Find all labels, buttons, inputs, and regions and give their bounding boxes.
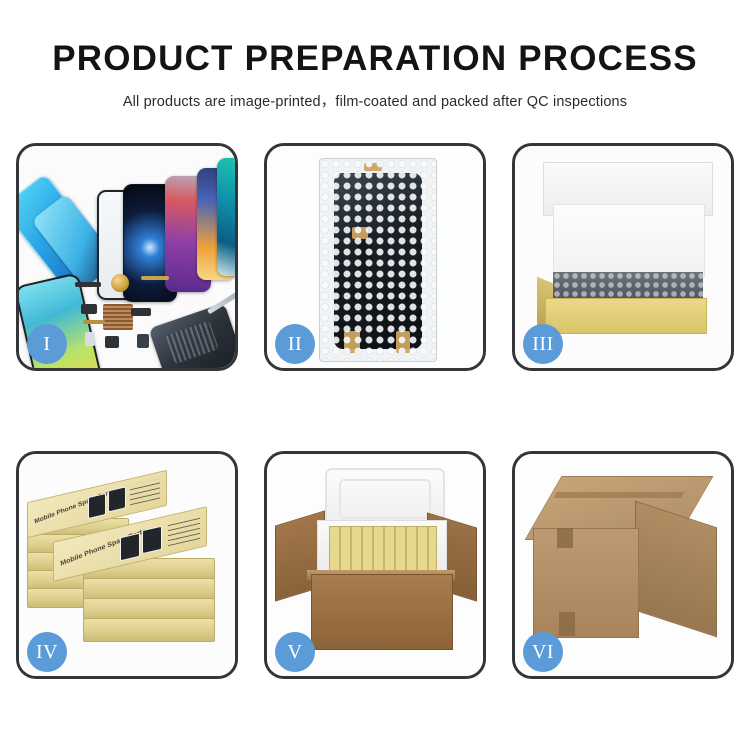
page-header: PRODUCT PREPARATION PROCESS All products… (0, 0, 750, 111)
stacked-box-front-4 (83, 618, 215, 642)
process-step-grid: I II III (16, 143, 734, 679)
step-badge-5: V (275, 632, 315, 672)
box-screen-thumb-front-2 (142, 526, 162, 555)
process-step-panel-2[interactable]: II (264, 143, 486, 371)
shipping-box-seam (553, 492, 684, 498)
small-part-4 (105, 336, 119, 348)
stacked-box-front-2 (83, 578, 215, 600)
stacked-box-front-3 (83, 598, 215, 620)
shipping-box-tape-upper (557, 528, 573, 548)
white-foam-sheet (553, 204, 705, 278)
bubble-wrap-package (319, 158, 437, 362)
page-subtitle: All products are image-printed，film-coat… (0, 90, 750, 111)
box-spec-lines-front (168, 517, 200, 546)
carton-front-face (311, 574, 453, 650)
step-badge-4: IV (27, 632, 67, 672)
packed-yellow-boxes (329, 526, 437, 572)
shipping-box-front (533, 528, 639, 638)
process-step-panel-1[interactable]: I (16, 143, 238, 371)
bubble-texture (320, 159, 436, 361)
process-step-panel-4[interactable]: Mobile Phone Spare Parts Mobile Phone Sp… (16, 451, 238, 679)
step-badge-6: VI (523, 632, 563, 672)
box-screen-thumb-back-1 (88, 493, 106, 519)
small-part-2 (81, 304, 97, 314)
step-badge-2: II (275, 324, 315, 364)
disassembled-phone-back (148, 303, 235, 368)
box-spec-lines-back (130, 478, 160, 505)
gold-component (111, 274, 129, 292)
teal-gradient-display (217, 158, 235, 276)
small-part-5 (137, 334, 149, 348)
bubble-wrapped-contents (553, 272, 703, 300)
flex-cable-1 (141, 276, 169, 280)
connector-grid-chip (103, 304, 133, 330)
process-step-panel-6[interactable]: VI (512, 451, 734, 679)
small-part-1 (75, 282, 101, 287)
box-screen-thumb-back-2 (108, 486, 126, 512)
small-part-3 (85, 332, 95, 346)
page-title: PRODUCT PREPARATION PROCESS (0, 40, 750, 79)
process-step-panel-5[interactable]: V (264, 451, 486, 679)
small-part-6 (131, 308, 151, 316)
flex-cable-2 (83, 320, 105, 324)
process-step-panel-3[interactable]: III (512, 143, 734, 371)
shipping-box-tape-lower (559, 612, 575, 636)
step-badge-1: I (27, 324, 67, 364)
box-screen-thumb-front-1 (120, 533, 140, 562)
step-badge-3: III (523, 324, 563, 364)
kraft-box-front (545, 298, 707, 334)
shipping-box-right-side (635, 501, 717, 638)
